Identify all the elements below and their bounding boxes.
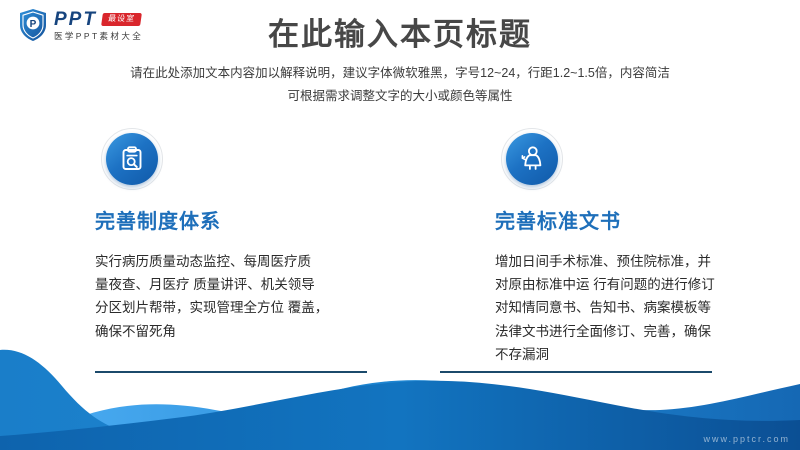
body-line: 增加日间手术标准、预住院标准，并 [495,250,770,273]
icon-badge-right[interactable] [506,133,558,185]
column-right: 完善标准文书 增加日间手术标准、预住院标准，并 对原由标准中运 行有问题的进行修… [55,128,525,366]
body-line: 对原由标准中运 行有问题的进行修订 [495,273,770,296]
subtitle-line-1: 请在此处添加文本内容加以解释说明，建议字体微软雅黑，字号12~24，行距1.2~… [0,62,800,85]
nurse-figure-icon [518,145,546,173]
column-right-heading: 完善标准文书 [495,210,770,234]
watermark: www.pptcr.com [703,434,790,444]
page-title: 在此输入本页标题 [0,16,800,55]
slide-canvas: P PPT 最设室 医学PPT素材大全 在此输入本页标题 请在此处添加文本内容加… [0,0,800,450]
content-columns: 完善制度体系 实行病历质量动态监控、每周医疗质 量夜查、月医疗 质量讲评、机关领… [0,128,800,366]
subtitle-line-2: 可根据需求调整文字的大小或颜色等属性 [0,85,800,108]
page-subtitle: 请在此处添加文本内容加以解释说明，建议字体微软雅黑，字号12~24，行距1.2~… [0,62,800,107]
icon-ring-right [501,128,563,190]
wave-decoration: www.pptcr.com [0,340,800,450]
body-line: 对知情同意书、告知书、病案模板等 [495,296,770,319]
